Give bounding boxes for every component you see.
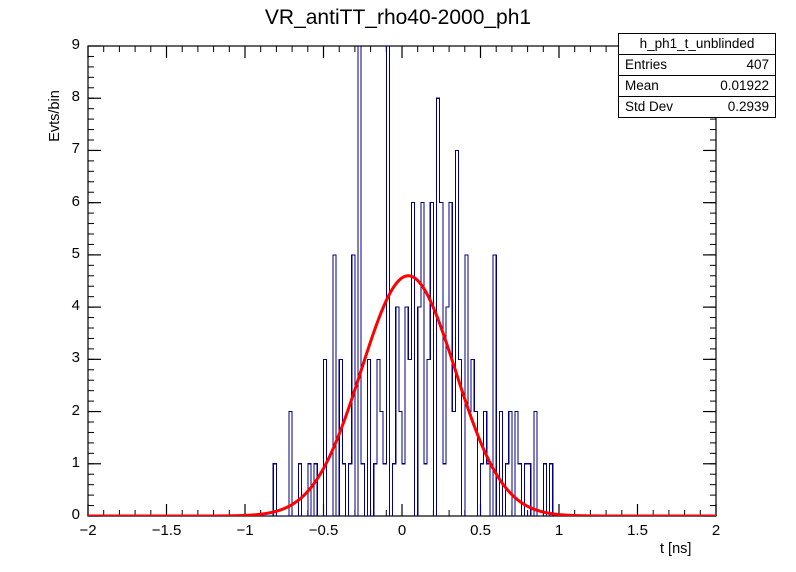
x-tick-label: 0	[372, 522, 432, 539]
y-tick-label: 1	[36, 454, 80, 471]
x-tick-label: 1	[529, 522, 589, 539]
y-tick-label: 9	[36, 36, 80, 53]
y-tick-label: 0	[36, 506, 80, 523]
stats-row-mean: Mean 0.01922	[619, 76, 775, 97]
y-tick-label: 3	[36, 349, 80, 366]
y-tick-label: 4	[36, 297, 80, 314]
y-tick-label: 5	[36, 245, 80, 262]
stats-row-stddev: Std Dev 0.2939	[619, 97, 775, 117]
x-tick-label: 2	[686, 522, 746, 539]
x-tick-label: −1.5	[137, 522, 197, 539]
y-tick-label: 6	[36, 193, 80, 210]
y-tick-label: 2	[36, 402, 80, 419]
stats-value-mean: 0.01922	[720, 78, 769, 93]
stats-key-stddev: Std Dev	[625, 99, 673, 114]
root-canvas: VR_antiTT_rho40-2000_ph1 Evts/bin t [ns]…	[0, 0, 796, 572]
x-tick-label: 0.5	[451, 522, 511, 539]
stats-row-entries: Entries 407	[619, 55, 775, 76]
x-axis-title: t [ns]	[660, 541, 691, 557]
stats-key-entries: Entries	[625, 57, 667, 72]
stats-value-entries: 407	[746, 57, 769, 72]
stats-box-title: h_ph1_t_unblinded	[619, 34, 775, 55]
y-tick-label: 7	[36, 140, 80, 157]
x-tick-label: −0.5	[294, 522, 354, 539]
x-tick-label: 1.5	[608, 522, 668, 539]
stats-box: h_ph1_t_unblinded Entries 407 Mean 0.019…	[618, 33, 776, 118]
y-tick-label: 8	[36, 88, 80, 105]
stats-value-stddev: 0.2939	[728, 99, 769, 114]
x-tick-label: −2	[58, 522, 118, 539]
y-axis-title: Evts/bin	[47, 56, 63, 176]
x-tick-label: −1	[215, 522, 275, 539]
stats-key-mean: Mean	[625, 78, 659, 93]
